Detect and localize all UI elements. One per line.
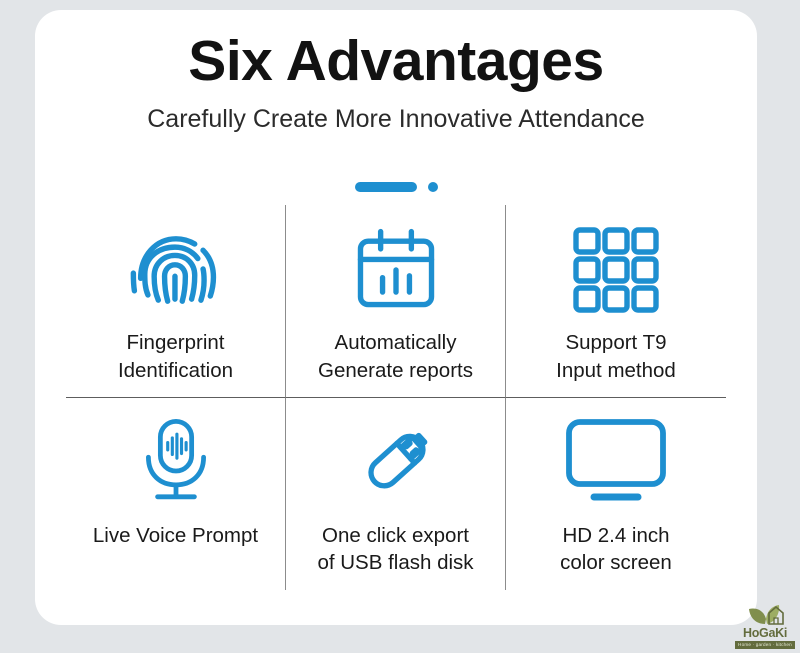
feature-cell-fingerprint[interactable]: Fingerprint Identification — [66, 205, 286, 398]
keypad-grid-icon — [566, 211, 666, 329]
accent-bar — [355, 182, 417, 192]
watermark-name: HoGaKi — [743, 627, 787, 640]
display-screen-icon — [561, 404, 671, 516]
page-subtitle: Carefully Create More Innovative Attenda… — [35, 106, 757, 134]
feature-cell-usb-export[interactable]: One click export of USB flash disk — [286, 398, 506, 591]
feature-grid: Fingerprint Identification Automaticall — [66, 205, 726, 590]
header: Six Advantages Carefully Create More Inn… — [35, 32, 757, 133]
house-leaf-logo-icon — [745, 600, 785, 626]
feature-label: HD 2.4 inch color screen — [554, 522, 678, 577]
feature-label: Automatically Generate reports — [312, 329, 479, 384]
feature-label: Support T9 Input method — [550, 329, 682, 384]
feature-label: Fingerprint Identification — [112, 329, 239, 384]
accent-dot — [428, 182, 438, 192]
feature-cell-color-screen[interactable]: HD 2.4 inch color screen — [506, 398, 726, 591]
usb-flash-drive-icon — [347, 404, 445, 516]
feature-cell-voice-prompt[interactable]: Live Voice Prompt — [66, 398, 286, 591]
feature-label: One click export of USB flash disk — [311, 522, 479, 577]
fingerprint-icon — [124, 211, 228, 329]
screenshot-stage: Six Advantages Carefully Create More Inn… — [0, 0, 800, 653]
feature-cell-reports[interactable]: Automatically Generate reports — [286, 205, 506, 398]
feature-label: Live Voice Prompt — [87, 522, 264, 550]
page-title: Six Advantages — [35, 32, 757, 92]
feature-card: Six Advantages Carefully Create More Inn… — [35, 10, 757, 625]
feature-cell-t9-keypad[interactable]: Support T9 Input method — [506, 205, 726, 398]
watermark-tagline: Home · garden · kitchen — [735, 641, 795, 649]
calendar-report-icon — [348, 211, 444, 329]
accent-divider — [35, 182, 757, 192]
microphone-icon — [130, 404, 222, 516]
watermark-logo: HoGaKi Home · garden · kitchen — [734, 593, 796, 649]
